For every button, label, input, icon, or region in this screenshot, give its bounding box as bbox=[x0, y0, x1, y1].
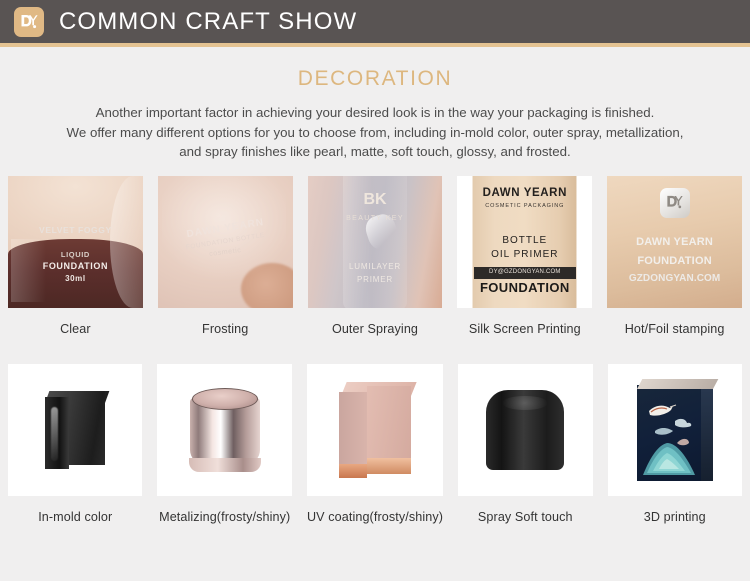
decoration-grid-row-1: VELVET FOGGY LIQUID FOUNDATION 30ml Clea… bbox=[0, 176, 750, 350]
grid-item-outer-spraying[interactable]: BK BEAUTY KEY LUMILAYER PRIMER Outer Spr… bbox=[308, 176, 443, 350]
art-text-website: DY@GZDONGYAN.COM bbox=[457, 269, 592, 276]
grid-item-spray-soft-touch[interactable]: Spray Soft touch bbox=[458, 364, 592, 538]
outer-sprayed-primer-tube-image: BK BEAUTY KEY LUMILAYER PRIMER bbox=[308, 176, 443, 308]
page-title: COMMON CRAFT SHOW bbox=[59, 8, 357, 36]
art-text-velvet-foggy: VELVET FOGGY bbox=[8, 226, 143, 236]
caption-hot-foil-stamping: Hot/Foil stamping bbox=[607, 308, 742, 350]
caption-in-mold-color: In-mold color bbox=[8, 496, 142, 538]
dy-foil-logo-icon bbox=[660, 188, 690, 218]
page-header: COMMON CRAFT SHOW bbox=[0, 0, 750, 47]
grid-item-in-mold-color[interactable]: In-mold color bbox=[8, 364, 142, 538]
dy-monogram-logo-icon bbox=[14, 7, 44, 37]
rose-gold-metallic-cap-image bbox=[157, 364, 291, 496]
section-description: Another important factor in achieving yo… bbox=[0, 103, 750, 162]
caption-silk-screen-printing: Silk Screen Printing bbox=[457, 308, 592, 350]
pink-uv-coated-cap-image bbox=[307, 364, 443, 496]
caption-outer-spraying: Outer Spraying bbox=[308, 308, 443, 350]
grid-item-hot-foil-stamping[interactable]: DAWN YEARN FOUNDATION GZDONGYAN.COM Hot/… bbox=[607, 176, 742, 350]
art-text-dawn-yearn: DAWN YEARN bbox=[457, 187, 592, 200]
art-text-beauty-key: BEAUTY KEY bbox=[308, 215, 443, 223]
art-text-dawn-yearn: DAWN YEARN bbox=[607, 236, 742, 248]
navy-crane-mountain-printed-box-image bbox=[608, 364, 742, 496]
art-text-liquid: LIQUID bbox=[8, 251, 143, 259]
clear-glass-foundation-bottle-image: VELVET FOGGY LIQUID FOUNDATION 30ml bbox=[8, 176, 143, 308]
art-text-bottle: BOTTLE bbox=[457, 235, 592, 246]
caption-spray-soft-touch: Spray Soft touch bbox=[458, 496, 592, 538]
matte-black-round-cap-image bbox=[458, 364, 592, 496]
section-description-line-2: We offer many different options for you … bbox=[22, 123, 728, 143]
caption-uv-coating: UV coating(frosty/shiny) bbox=[307, 496, 443, 538]
art-text-foundation: FOUNDATION bbox=[457, 281, 592, 296]
section-description-line-1: Another important factor in achieving yo… bbox=[22, 103, 728, 123]
art-text-primer: PRIMER bbox=[308, 276, 443, 285]
grid-item-silk-screen-printing[interactable]: DAWN YEARN COSMETIC PACKAGING BOTTLE OIL… bbox=[457, 176, 592, 350]
frosted-foundation-bottle-image: DAWN YEARN FOUNDATION BOTTLE cosmetic bbox=[158, 176, 293, 308]
grid-item-frosting[interactable]: DAWN YEARN FOUNDATION BOTTLE cosmetic Fr… bbox=[158, 176, 293, 350]
grid-item-uv-coating[interactable]: UV coating(frosty/shiny) bbox=[307, 364, 443, 538]
art-text-foundation: FOUNDATION bbox=[607, 255, 742, 267]
art-text-foundation: FOUNDATION bbox=[8, 261, 143, 271]
decoration-section: DECORATION Another important factor in a… bbox=[0, 47, 750, 162]
caption-3d-printing: 3D printing bbox=[608, 496, 742, 538]
section-title: DECORATION bbox=[0, 67, 750, 91]
section-description-line-3: and spray finishes like pearl, matte, so… bbox=[22, 142, 728, 162]
hot-foil-stamped-bottle-image: DAWN YEARN FOUNDATION GZDONGYAN.COM bbox=[607, 176, 742, 308]
caption-clear: Clear bbox=[8, 308, 143, 350]
silk-screen-printed-bottle-image: DAWN YEARN COSMETIC PACKAGING BOTTLE OIL… bbox=[457, 176, 592, 308]
art-text-volume: 30ml bbox=[8, 275, 143, 284]
grid-item-clear[interactable]: VELVET FOGGY LIQUID FOUNDATION 30ml Clea… bbox=[8, 176, 143, 350]
crane-motif bbox=[649, 405, 676, 416]
art-text-lumilayer: LUMILAYER bbox=[308, 263, 443, 272]
cloud-motif bbox=[655, 418, 691, 444]
grid-item-metalizing[interactable]: Metalizing(frosty/shiny) bbox=[157, 364, 291, 538]
caption-metalizing: Metalizing(frosty/shiny) bbox=[157, 496, 291, 538]
art-text-oil-primer: OIL PRIMER bbox=[457, 249, 592, 260]
decoration-grid-row-2: In-mold color Metalizing(frosty/shiny) bbox=[0, 364, 750, 538]
grid-item-3d-printing[interactable]: 3D printing bbox=[608, 364, 742, 538]
art-text-bk-logo: BK bbox=[308, 191, 443, 209]
art-text-website: GZDONGYAN.COM bbox=[607, 273, 742, 284]
art-text-cosmetic-packaging: COSMETIC PACKAGING bbox=[457, 203, 592, 209]
black-square-cap-image bbox=[8, 364, 142, 496]
mountain-motif bbox=[643, 443, 695, 475]
caption-frosting: Frosting bbox=[158, 308, 293, 350]
